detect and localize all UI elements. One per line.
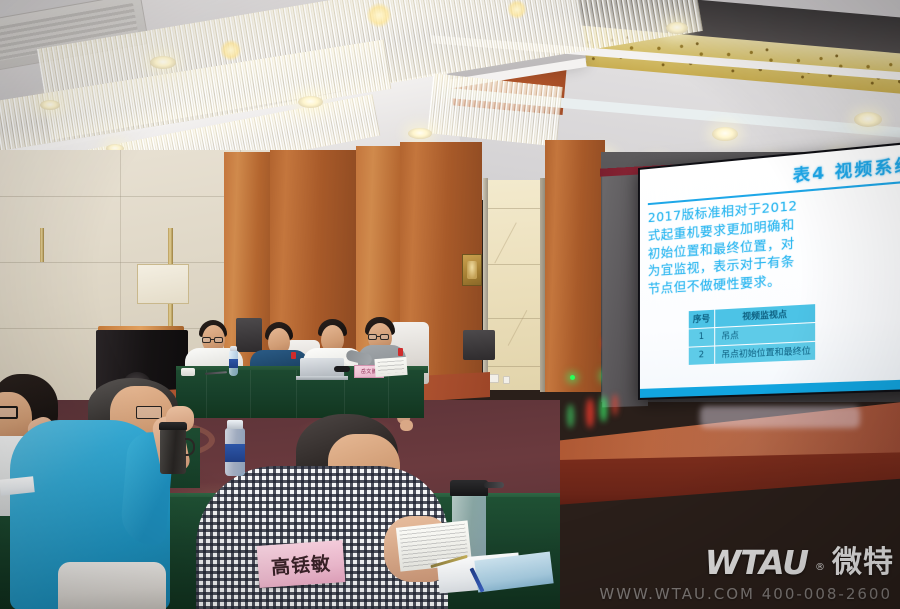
downlight-4 (40, 100, 60, 110)
wall-monitor-small (236, 318, 262, 352)
downlight-6 (712, 127, 738, 141)
watermark-logo: WTAU ® 微特 (705, 546, 894, 579)
downlight-8 (854, 112, 882, 127)
stage-reflection-red-2 (612, 394, 618, 416)
document-folder-head-table (374, 357, 407, 377)
microphone-base (334, 366, 350, 372)
projection-screen: 表4 视频系统 2017版标准相对于2012 式起重机要求更加明确和 初始位置和… (638, 140, 900, 400)
watermark-registered-mark: ® (815, 562, 825, 573)
stage-reflection-red-1 (586, 398, 594, 428)
lapel-badge-red (398, 348, 403, 356)
water-bottle-cap (230, 346, 237, 351)
downlight-2 (298, 96, 323, 108)
slide-table: 序号 视频监视点 1 吊点 2 吊点初始位置和最终位 (688, 303, 817, 366)
glasses-right-lens (214, 337, 223, 343)
glasses-lens (0, 406, 18, 419)
water-bottle-foreground (225, 428, 245, 476)
glasses-bridge (377, 336, 380, 337)
wall-switch-plate-2 (503, 376, 510, 384)
status-led-green-1 (570, 375, 575, 380)
stage-reflection-green-1 (600, 396, 607, 422)
chair-back-foreground (58, 562, 166, 609)
travel-mug-lid (159, 422, 187, 430)
wall-column-orange-5 (545, 140, 605, 392)
watermark-brand-cn: 微特 (832, 548, 894, 578)
thermos-tumbler-lid (450, 480, 488, 496)
water-bottle-head-table (229, 350, 238, 376)
wall-notice-frame (137, 264, 189, 304)
downlight-1 (150, 56, 176, 69)
glasses-bridge (211, 339, 214, 340)
watermark-brand-latin: WTAU (705, 546, 808, 579)
slide-table-cell-r1c0: 2 (689, 346, 714, 364)
wall-plaque (462, 254, 482, 286)
glasses-left-lens (368, 334, 377, 340)
wall-monitor-small-2 (463, 330, 495, 360)
slide-table-cell-r0c0: 1 (689, 328, 714, 347)
paper-stack-head-table (181, 368, 195, 376)
downlight-5 (666, 22, 688, 34)
travel-mug (160, 428, 186, 474)
watermark-overlay-card-text: 高铥敏 (270, 548, 332, 579)
hand (400, 420, 413, 431)
thermos-handle (484, 482, 504, 488)
screenshot-root: 表4 视频系统 2017版标准相对于2012 式起重机要求更加明确和 初始位置和… (0, 0, 900, 609)
glasses-left-lens (202, 337, 211, 343)
watermark-contact-text: WWW.WTAU.COM 400-008-2600 (599, 585, 892, 603)
downlight-3 (408, 128, 432, 139)
projection-screen-surface: 表4 视频系统 2017版标准相对于2012 式起重机要求更加明确和 初始位置和… (640, 143, 900, 398)
stage-reflection-green-2 (567, 404, 574, 428)
slide-table-cell-r1c1: 吊点初始位置和最终位 (715, 342, 815, 364)
slide-table-header-0: 序号 (689, 309, 714, 328)
laptop-base (296, 376, 348, 380)
stage-reflection-screen-glow (700, 406, 860, 428)
glasses-right-lens (380, 334, 389, 340)
watermark-overlay-card: 高铥敏 (257, 540, 346, 588)
wall-reveal-strip-3 (40, 228, 44, 262)
lapel-badge-red (291, 352, 296, 359)
water-bottle-cap-foreground (227, 420, 243, 429)
glasses-lens (136, 406, 162, 419)
wall-marble-niche (487, 180, 542, 390)
